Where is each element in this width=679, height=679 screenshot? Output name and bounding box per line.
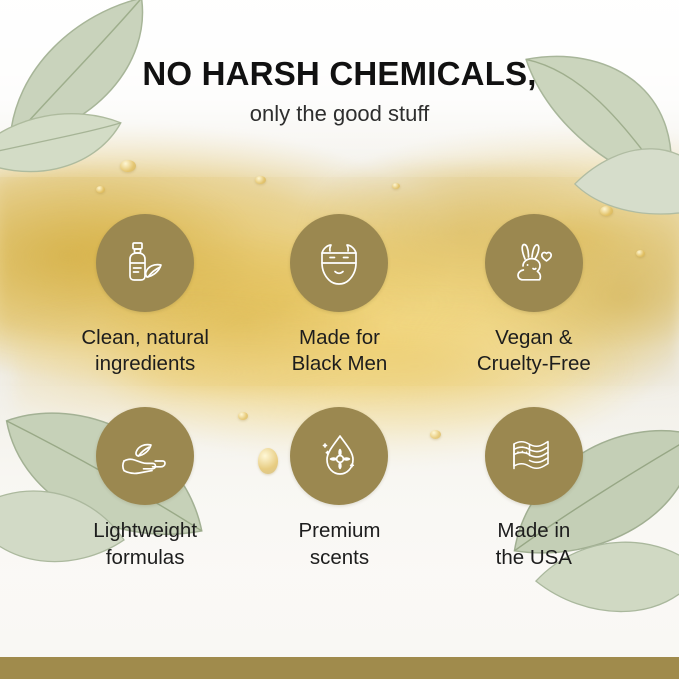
- page-title: NO HARSH CHEMICALS,: [0, 56, 679, 92]
- oil-droplet: [636, 250, 645, 257]
- feature-grid: Clean, natural ingredients Made f: [48, 214, 631, 571]
- feature-label: Made for Black Men: [292, 325, 388, 377]
- feature-badge: [290, 407, 388, 505]
- header: NO HARSH CHEMICALS, only the good stuff: [0, 56, 679, 126]
- usa-flag-icon: [505, 427, 563, 485]
- page-subtitle: only the good stuff: [0, 102, 679, 126]
- feature-badge: [96, 407, 194, 505]
- feature-label: Premium scents: [298, 518, 380, 570]
- oil-droplet: [120, 160, 136, 172]
- bearded-face-icon: [311, 235, 367, 291]
- feature-item-lightweight-formulas: Lightweight formulas: [48, 407, 242, 570]
- feature-item-made-for-black-men: Made for Black Men: [242, 214, 436, 377]
- feature-badge: [485, 407, 583, 505]
- feature-label: Vegan & Cruelty-Free: [477, 325, 591, 377]
- feature-label: Clean, natural ingredients: [81, 325, 209, 377]
- oil-droplet: [255, 176, 266, 184]
- hand-leaf-icon: [116, 427, 174, 485]
- feature-item-premium-scents: Premium scents: [242, 407, 436, 570]
- feature-badge: [485, 214, 583, 312]
- feature-label: Made in the USA: [496, 518, 572, 570]
- promo-graphic: NO HARSH CHEMICALS, only the good stuff: [0, 0, 679, 679]
- oil-droplet: [392, 183, 400, 189]
- feature-label: Lightweight formulas: [93, 518, 197, 570]
- feature-badge: [96, 214, 194, 312]
- bunny-heart-icon: [506, 235, 562, 291]
- feature-item-vegan-cruelty-free: Vegan & Cruelty-Free: [437, 214, 631, 377]
- feature-badge: [290, 214, 388, 312]
- dropper-bottle-leaf-icon: [117, 235, 173, 291]
- feature-item-made-in-the-usa: Made in the USA: [437, 407, 631, 570]
- scented-droplet-icon: [311, 428, 367, 484]
- bottom-accent-bar: [0, 657, 679, 679]
- feature-item-clean-natural-ingredients: Clean, natural ingredients: [48, 214, 242, 377]
